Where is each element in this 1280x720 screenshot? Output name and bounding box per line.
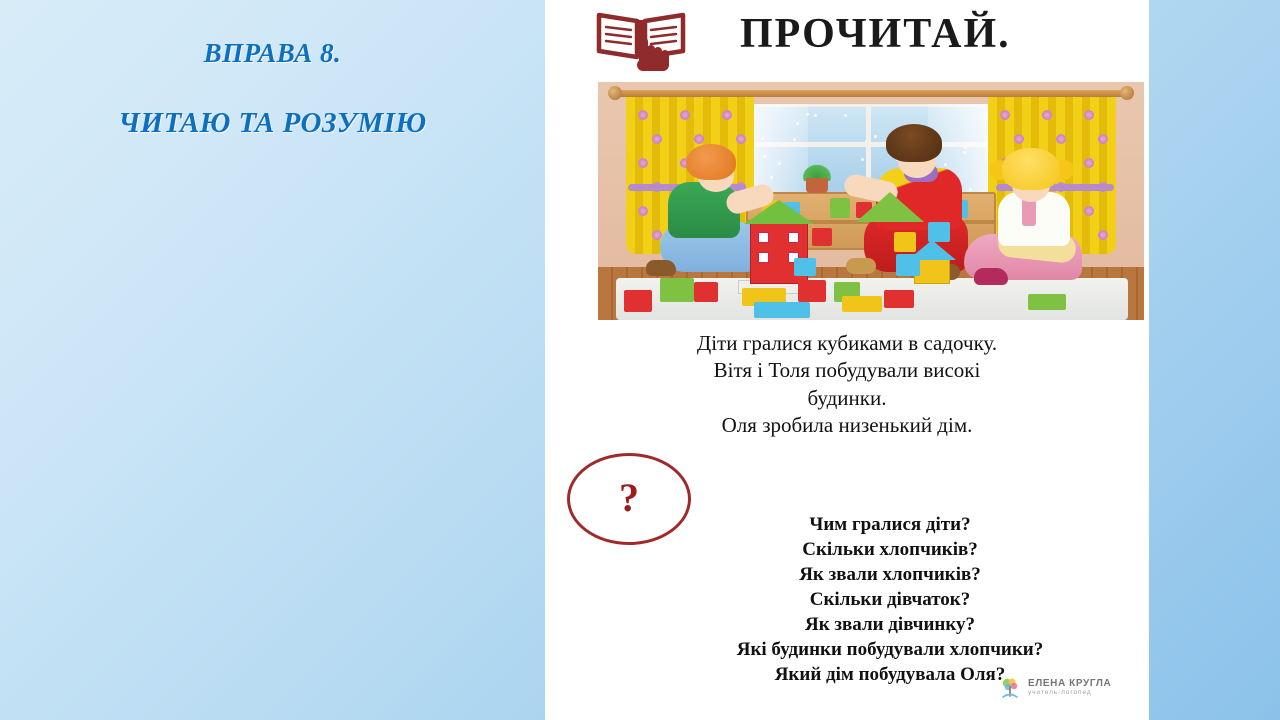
questions-list: Чим гралися діти? Скільки хлопчиків? Як … bbox=[655, 512, 1125, 688]
story-line: Вітя і Толя побудували високі bbox=[565, 357, 1129, 384]
story-line: будинки. bbox=[565, 385, 1129, 412]
story-text: Діти гралися кубиками в садочку. Вітя і … bbox=[565, 330, 1129, 439]
page-subtitle: ЧИТАЮ ТА РОЗУМІЮ bbox=[0, 107, 545, 140]
question-item: Чим гралися діти? bbox=[655, 512, 1125, 537]
read-title: ПРОЧИТАЙ. bbox=[740, 10, 1120, 58]
left-title-panel: ВПРАВА 8. ЧИТАЮ ТА РОЗУМІЮ bbox=[0, 0, 545, 720]
children-playing-blocks-illustration bbox=[598, 82, 1144, 320]
question-item: Скільки дівчаток? bbox=[655, 587, 1125, 612]
question-item: Як звали дівчинку? bbox=[655, 612, 1125, 637]
question-item: Які будинки побудували хлопчики? bbox=[655, 637, 1125, 662]
question-item: Скільки хлопчиків? bbox=[655, 537, 1125, 562]
watermark-text: ЕЛЕНА КРУГЛА учитель-логопед bbox=[1028, 679, 1111, 696]
story-line: Діти гралися кубиками в садочку. bbox=[565, 330, 1129, 357]
author-watermark: ЕЛЕНА КРУГЛА учитель-логопед bbox=[997, 672, 1133, 704]
question-item: Як звали хлопчиків? bbox=[655, 562, 1125, 587]
content-panel: ПРОЧИТАЙ. bbox=[545, 0, 1149, 720]
tree-logo-icon bbox=[997, 675, 1023, 701]
title-block: ВПРАВА 8. ЧИТАЮ ТА РОЗУМІЮ bbox=[0, 38, 545, 140]
exercise-label: ВПРАВА 8. bbox=[0, 38, 545, 69]
open-book-with-pointing-hand-icon bbox=[595, 7, 687, 73]
read-header: ПРОЧИТАЙ. bbox=[545, 2, 1149, 76]
watermark-subtitle: учитель-логопед bbox=[1028, 690, 1111, 697]
question-mark-icon: ? bbox=[619, 478, 639, 518]
story-line: Оля зробила низенький дім. bbox=[565, 412, 1129, 439]
